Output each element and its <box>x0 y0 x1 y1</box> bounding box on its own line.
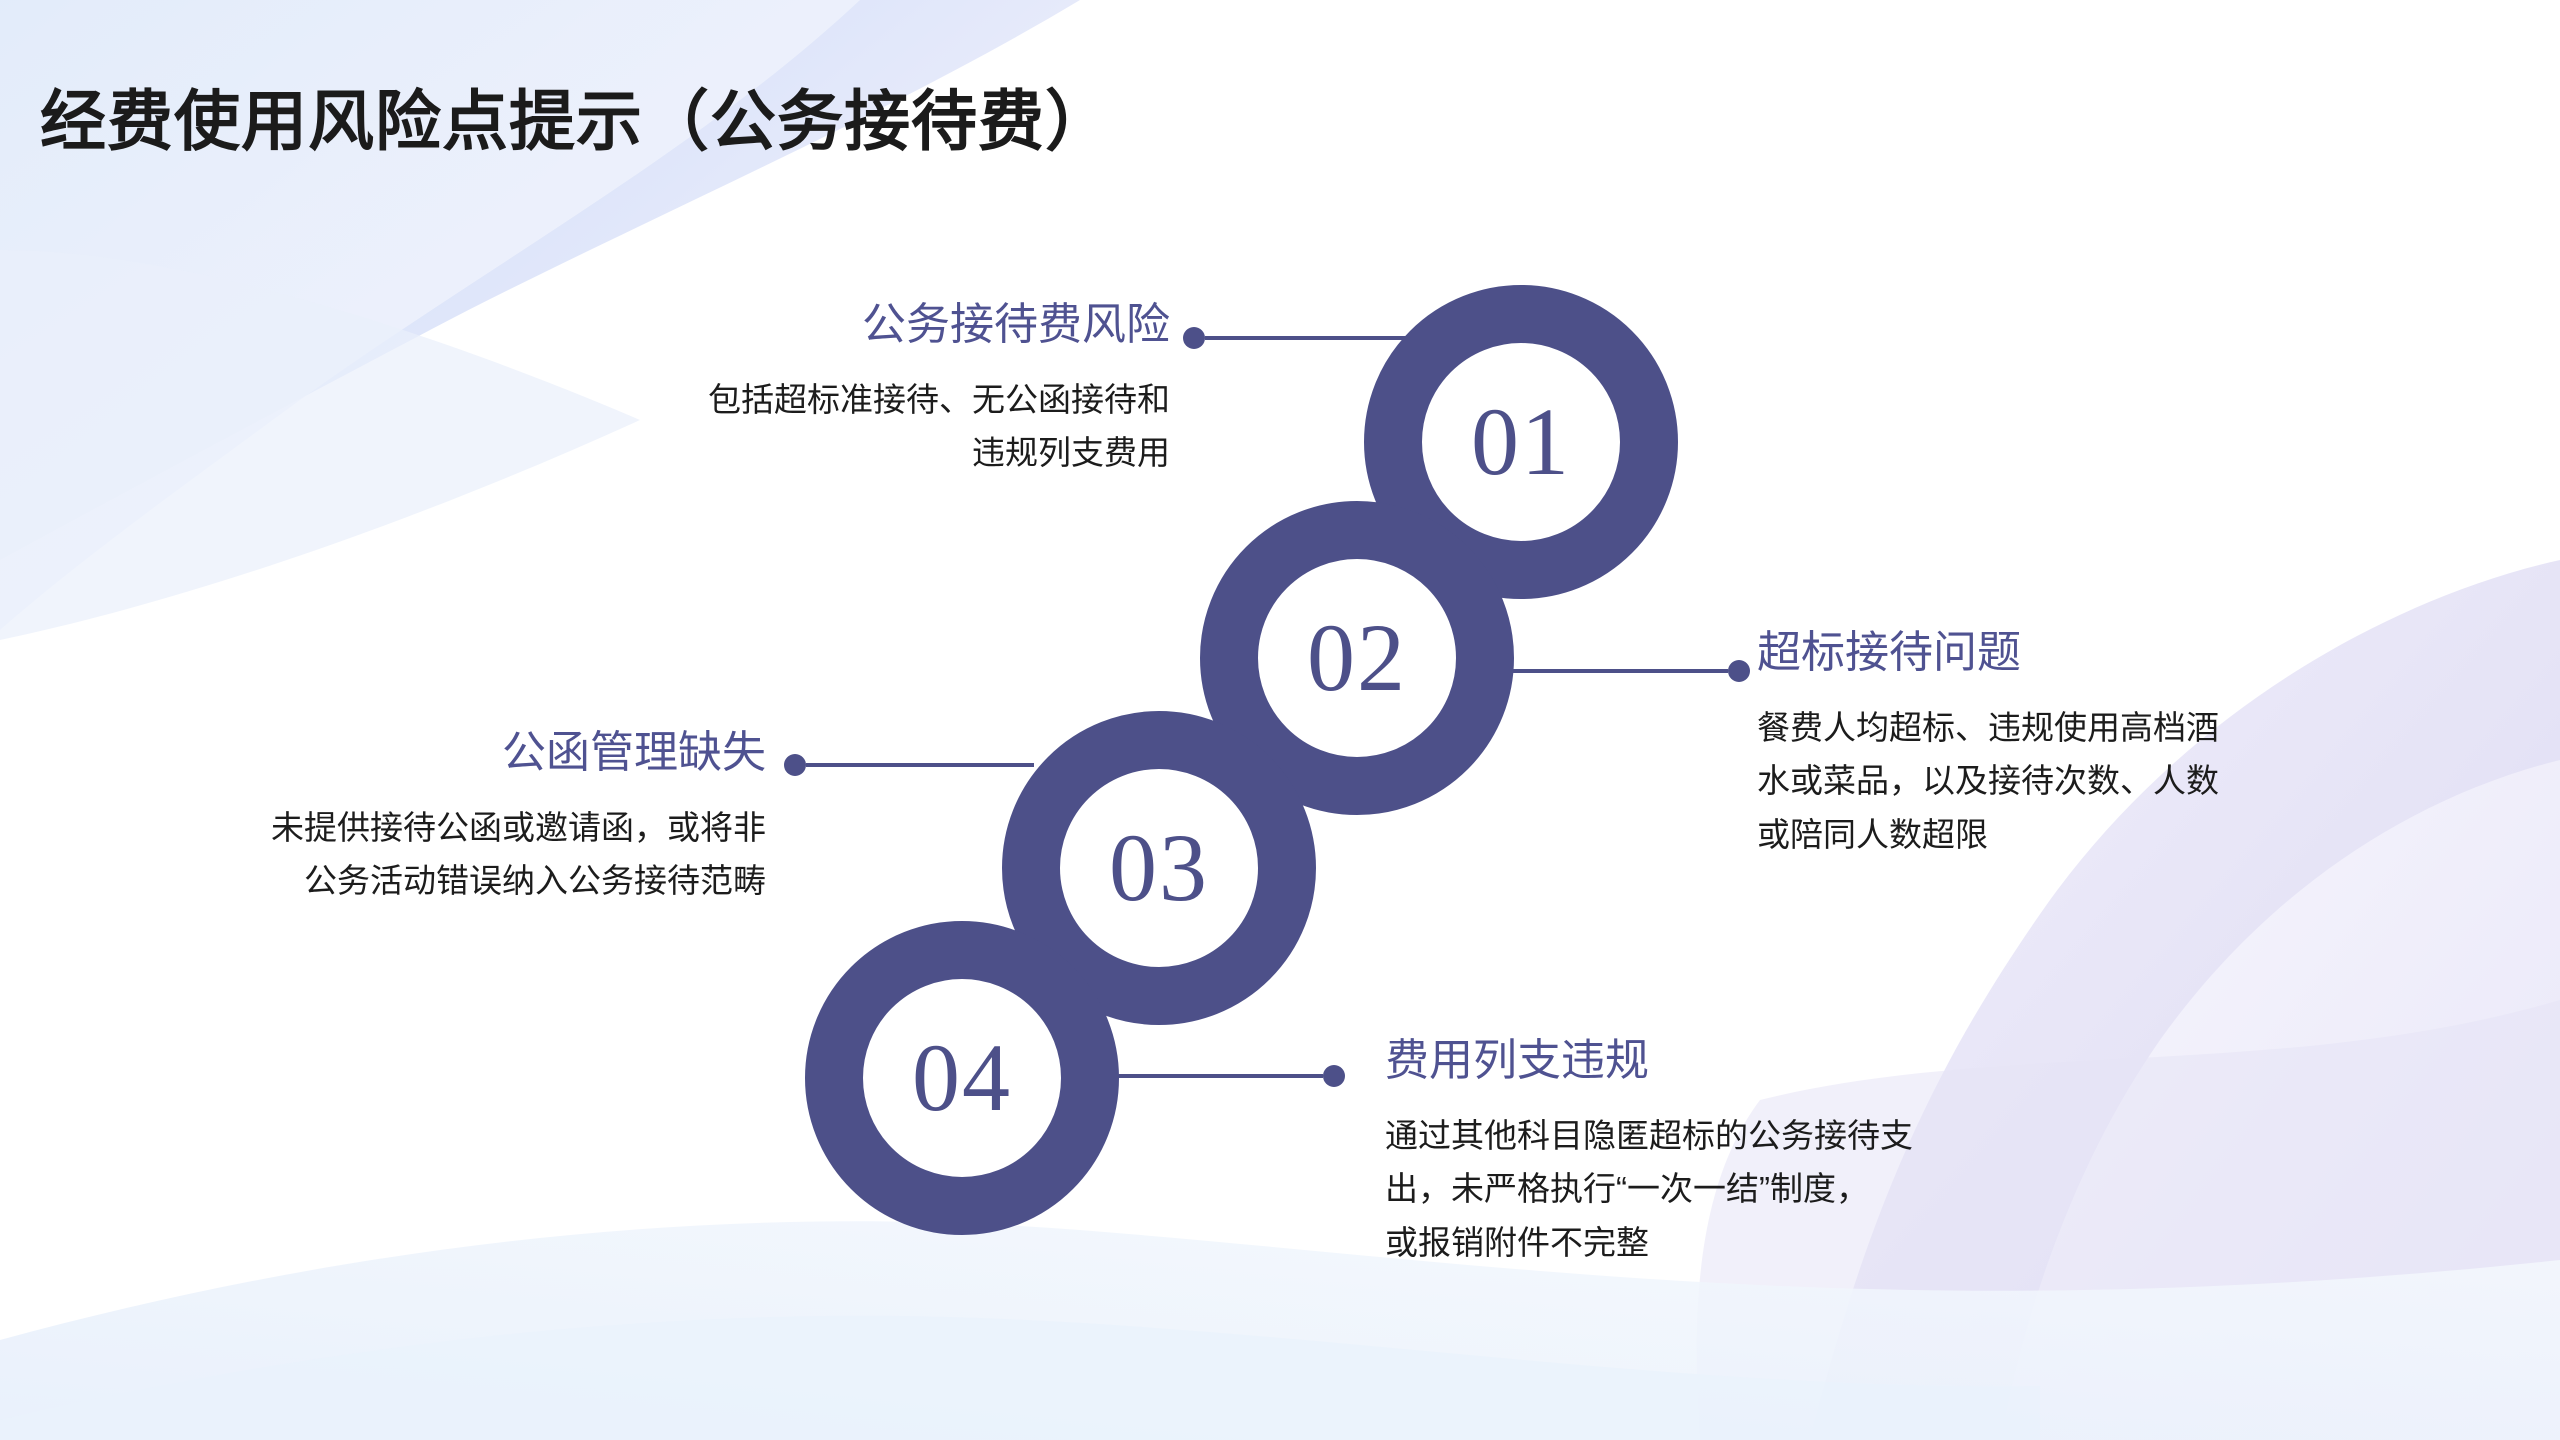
connector-dot-01 <box>1183 327 1205 349</box>
block-heading-02: 超标接待问题 <box>1757 628 2457 679</box>
body-line: 通过其他科目隐匿超标的公务接待支 <box>1385 1109 2105 1162</box>
connector-02 <box>1500 660 1750 682</box>
connector-dot-04 <box>1323 1065 1345 1087</box>
connector-03 <box>784 754 1034 776</box>
body-line: 公务活动错误纳入公务接待范畴 <box>100 854 766 907</box>
connector-line-01 <box>1205 336 1423 340</box>
block-body-02: 餐费人均超标、违规使用高档酒 水或菜品，以及接待次数、人数 或陪同人数超限 <box>1757 701 2457 861</box>
block-heading-04: 费用列支违规 <box>1385 1036 2105 1087</box>
body-line: 餐费人均超标、违规使用高档酒 <box>1757 701 2457 754</box>
content-block-03: 公函管理缺失 未提供接待公函或邀请函，或将非 公务活动错误纳入公务接待范畴 <box>100 728 766 908</box>
body-line: 或报销附件不完整 <box>1385 1216 2105 1269</box>
slide-canvas: 经费使用风险点提示（公务接待费） 01 02 03 04 公务接待费风险 包括超… <box>0 0 2560 1440</box>
block-body-03: 未提供接待公函或邀请函，或将非 公务活动错误纳入公务接待范畴 <box>100 801 766 908</box>
connector-dot-03 <box>784 754 806 776</box>
connector-dot-02 <box>1728 660 1750 682</box>
ring-number-02: 02 <box>1237 610 1477 706</box>
connector-line-04 <box>1110 1074 1323 1078</box>
connector-line-03 <box>806 763 1034 767</box>
block-heading-01: 公务接待费风险 <box>520 300 1170 351</box>
block-heading-03: 公函管理缺失 <box>100 728 766 779</box>
body-line: 包括超标准接待、无公函接待和 <box>520 373 1170 426</box>
ring-number-04: 04 <box>842 1030 1082 1126</box>
block-body-04: 通过其他科目隐匿超标的公务接待支 出，未严格执行“一次一结”制度， 或报销附件不… <box>1385 1109 2105 1269</box>
ring-number-01: 01 <box>1401 394 1641 490</box>
body-line: 未提供接待公函或邀请函，或将非 <box>100 801 766 854</box>
connector-line-02 <box>1500 669 1728 673</box>
body-line: 违规列支费用 <box>520 426 1170 479</box>
body-line: 出，未严格执行“一次一结”制度， <box>1385 1162 2105 1215</box>
ring-number-03: 03 <box>1039 820 1279 916</box>
body-line: 或陪同人数超限 <box>1757 808 2457 861</box>
content-block-04: 费用列支违规 通过其他科目隐匿超标的公务接待支 出，未严格执行“一次一结”制度，… <box>1385 1036 2105 1269</box>
body-line: 水或菜品，以及接待次数、人数 <box>1757 754 2457 807</box>
content-block-01: 公务接待费风险 包括超标准接待、无公函接待和 违规列支费用 <box>520 300 1170 480</box>
content-block-02: 超标接待问题 餐费人均超标、违规使用高档酒 水或菜品，以及接待次数、人数 或陪同… <box>1757 628 2457 861</box>
block-body-01: 包括超标准接待、无公函接待和 违规列支费用 <box>520 373 1170 480</box>
connector-01 <box>1183 327 1423 349</box>
connector-04 <box>1110 1065 1345 1087</box>
